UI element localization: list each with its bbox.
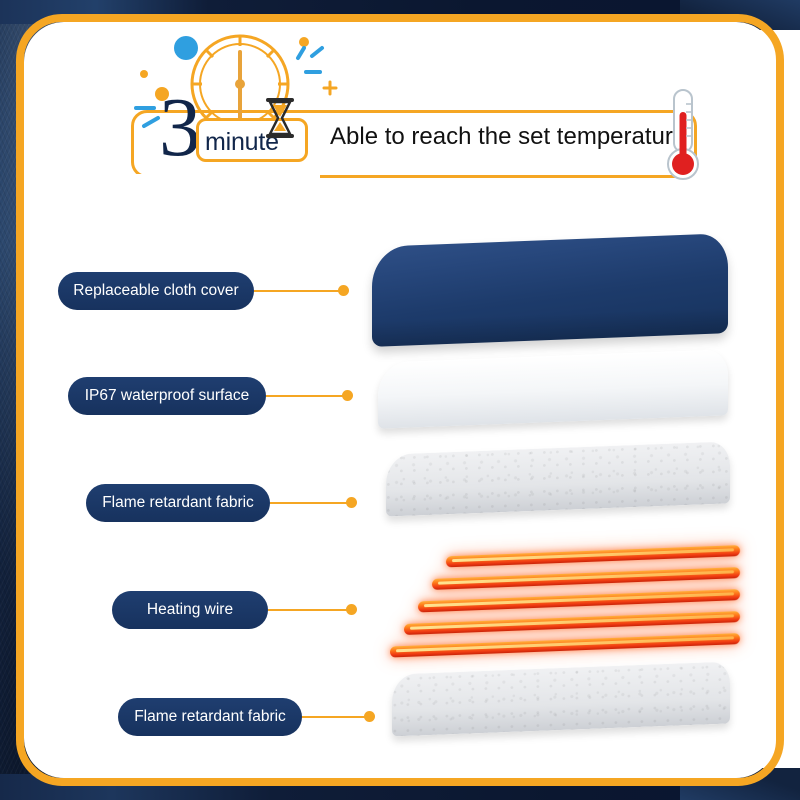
callout-label-flame-retardant-fabric-upper[interactable]: Flame retardant fabric [86, 484, 270, 522]
banner-headline: Able to reach the set temperature [330, 123, 686, 151]
duration-number: 3 [159, 86, 201, 170]
leader-line-5 [302, 716, 366, 718]
heating-wire [432, 567, 740, 590]
heating-wire [404, 611, 740, 635]
callout-label-replaceable-cloth-cover[interactable]: Replaceable cloth cover [58, 272, 254, 310]
leader-dot-5 [364, 711, 375, 722]
callout-label-heating-wire[interactable]: Heating wire [112, 591, 268, 629]
callout-label-ip67-waterproof-surface[interactable]: IP67 waterproof surface [68, 377, 266, 415]
leader-line-3 [270, 502, 348, 504]
leader-line-1 [254, 290, 340, 292]
leader-dot-1 [338, 285, 349, 296]
layer-waterproof-surface [378, 349, 728, 428]
layer-cloth-cover [372, 233, 728, 347]
heating-wire [390, 633, 740, 657]
product-infographic: 3 minute Able to reach the set temperatu… [0, 0, 800, 800]
callout-label-flame-retardant-fabric-lower[interactable]: Flame retardant fabric [118, 698, 302, 736]
layer-flame-retardant-upper [386, 441, 730, 516]
heating-wire [418, 589, 740, 612]
layer-flame-retardant-lower [392, 662, 730, 737]
leader-dot-2 [342, 390, 353, 401]
layer-heating-wires [380, 541, 740, 677]
leader-dot-3 [346, 497, 357, 508]
leader-line-2 [266, 395, 344, 397]
thermometer-icon [662, 88, 704, 184]
leader-dot-4 [346, 604, 357, 615]
leader-line-4 [268, 609, 348, 611]
hourglass-icon [262, 96, 298, 140]
